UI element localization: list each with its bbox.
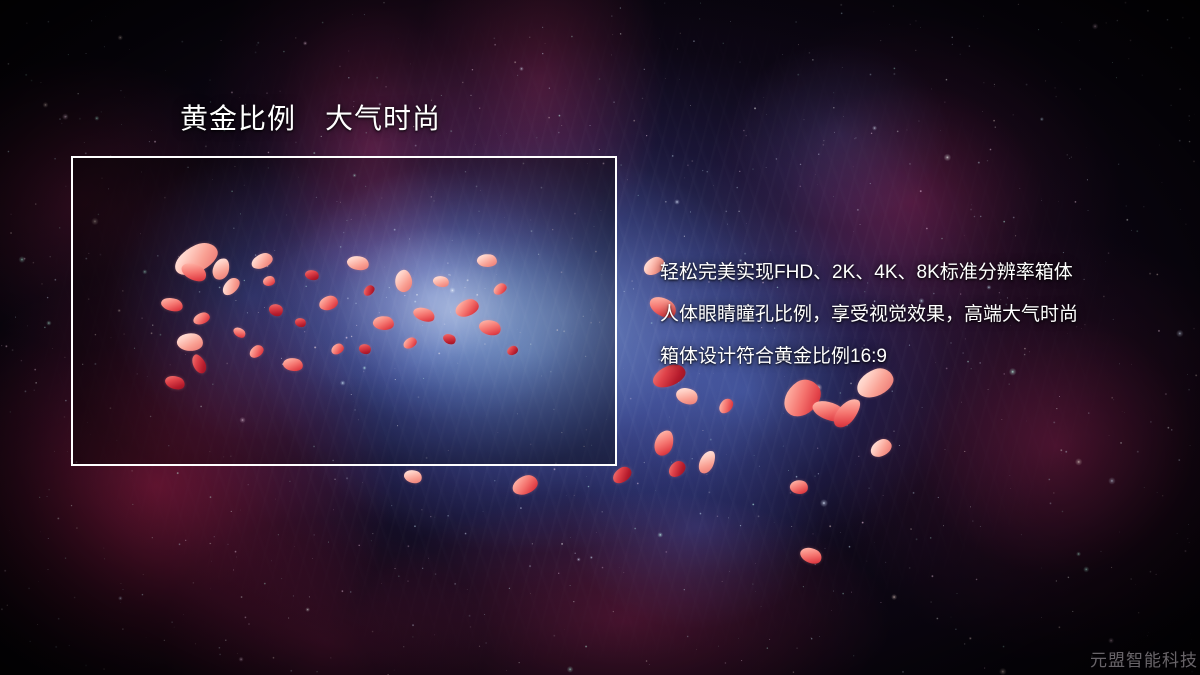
body-copy-line-3: 箱体设计符合黄金比例16:9: [660, 336, 1160, 378]
body-copy-line-2: 人体眼睛瞳孔比例，享受视觉效果，高端大气时尚: [660, 294, 1160, 336]
rose-petal: [402, 467, 424, 486]
rose-petal: [810, 396, 848, 426]
rose-petal: [830, 394, 865, 432]
rose-petal: [789, 478, 810, 496]
body-copy-line-1: 轻松完美实现FHD、2K、4K、8K标准分辨率箱体: [660, 252, 1160, 294]
framed-image-panel: [71, 156, 617, 466]
rose-petal: [610, 464, 634, 486]
rose-petal: [868, 436, 894, 459]
rose-petal: [510, 473, 540, 497]
rose-petal: [798, 544, 824, 568]
page-title: 黄金比例 大气时尚: [180, 102, 441, 136]
rose-petal: [652, 428, 675, 457]
presentation-slide: 黄金比例 大气时尚 轻松完美实现FHD、2K、4K、8K标准分辨率箱体 人体眼睛…: [0, 0, 1200, 675]
rose-petal: [776, 374, 827, 423]
rose-petal: [716, 396, 736, 415]
rose-petal: [696, 448, 717, 475]
rose-petal: [674, 384, 701, 408]
panel-inner-shading: [73, 158, 615, 464]
rose-petal: [666, 458, 689, 479]
watermark-label: 元盟智能科技: [1090, 650, 1198, 672]
body-copy-block: 轻松完美实现FHD、2K、4K、8K标准分辨率箱体 人体眼睛瞳孔比例，享受视觉效…: [660, 252, 1160, 378]
